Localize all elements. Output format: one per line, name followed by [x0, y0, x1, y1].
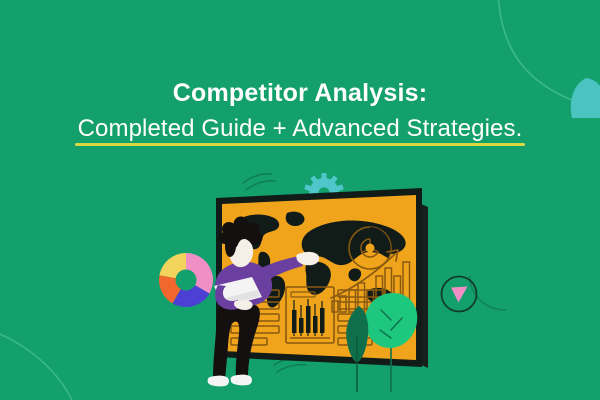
person-shoe-left [208, 376, 229, 387]
play-triangle-badge [442, 277, 477, 312]
title-block: Competitor Analysis: Completed Guide + A… [0, 78, 600, 146]
side-donut-chart [159, 253, 213, 307]
title-line-1: Competitor Analysis: [0, 78, 600, 108]
motion-lines-top [243, 174, 275, 190]
title-underline [75, 143, 526, 146]
poster-canvas: Competitor Analysis: Completed Guide + A… [0, 0, 600, 400]
person-shoe-right [231, 375, 252, 386]
tree-pine [346, 306, 368, 392]
title-line-2: Completed Guide + Advanced Strategies. [78, 114, 523, 143]
competitor-analysis-illustration [0, 0, 600, 400]
title-line-2-wrapper: Completed Guide + Advanced Strategies. [75, 114, 526, 146]
